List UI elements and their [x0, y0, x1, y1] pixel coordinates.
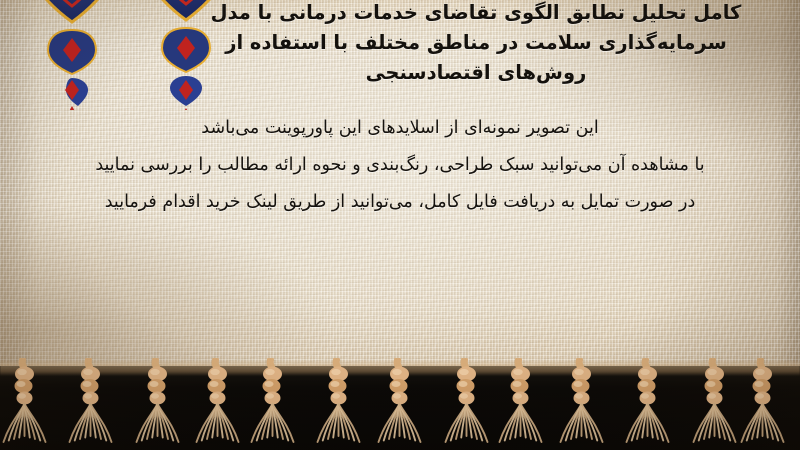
body-line-2: با مشاهده آن می‌توانید سبک طراحی، رنگ‌بن…	[24, 147, 776, 184]
fringe-tassel	[0, 358, 61, 450]
fringe-tassel	[678, 358, 742, 450]
fringe-tassel	[551, 358, 615, 450]
fringe-tassel	[245, 358, 309, 450]
slide-title: کامل تحلیل تطابق الگوی تقاضای خدمات درما…	[170, 0, 782, 88]
fringe-tassel	[60, 358, 124, 450]
fringe-tassel	[430, 358, 494, 450]
title-line-3: روش‌های اقتصادسنجی	[170, 58, 782, 88]
fringe-tassel	[366, 358, 430, 450]
body-line-1: این تصویر نمونه‌ای از اسلایدهای این پاور…	[24, 110, 776, 147]
fringe-tassel	[124, 358, 188, 450]
title-line-1: کامل تحلیل تطابق الگوی تقاضای خدمات درما…	[170, 0, 782, 28]
fringe-tassel	[735, 358, 799, 450]
fringe-tassel	[181, 358, 245, 450]
fringe-tassel	[493, 358, 557, 450]
body-line-3: در صورت تمایل به دریافت فایل کامل، می‌تو…	[24, 184, 776, 221]
fringe-tassel	[614, 358, 678, 450]
fringe-tassel	[308, 358, 372, 450]
slide-canvas: کامل تحلیل تطابق الگوی تقاضای خدمات درما…	[0, 0, 800, 450]
carpet-fringe	[0, 358, 800, 450]
title-line-2: سرمایه‌گذاری سلامت در مناطق مختلف با است…	[170, 28, 782, 58]
slide-body: این تصویر نمونه‌ای از اسلایدهای این پاور…	[24, 110, 776, 221]
